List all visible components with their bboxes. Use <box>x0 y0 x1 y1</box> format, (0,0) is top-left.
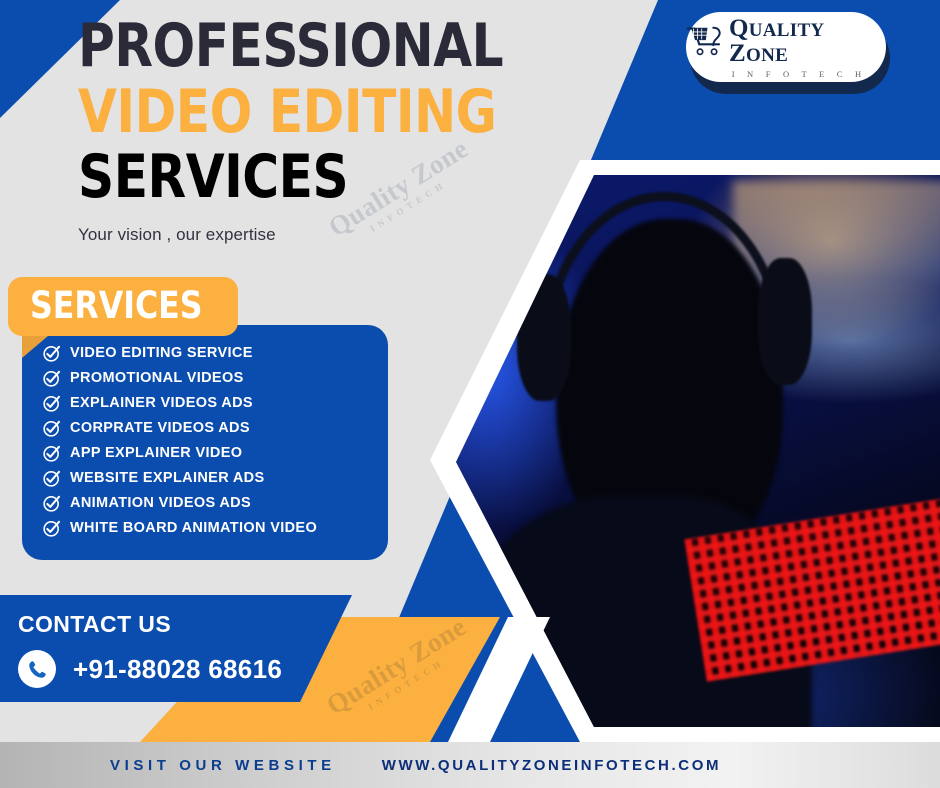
check-circle-icon <box>42 493 62 513</box>
poster-canvas: Quality Zone INFOTECH Quality Zone INFOT… <box>0 0 940 788</box>
service-item-label: ANIMATION VIDEOS ADS <box>70 495 251 511</box>
check-circle-icon <box>42 393 62 413</box>
headline-line-1: PROFESSIONAL <box>78 18 478 76</box>
service-item: CORPRATE VIDEOS ADS <box>42 418 388 438</box>
headline-line-2: VIDEO EDITING <box>78 84 478 142</box>
check-circle-icon <box>42 518 62 538</box>
check-circle-icon <box>42 368 62 388</box>
logo-wordmark: QUALITY ZONE <box>729 16 886 66</box>
logo-subtitle: I N F O T E C H <box>732 69 867 79</box>
check-circle-icon <box>42 418 62 438</box>
check-circle-icon <box>42 443 62 463</box>
service-item: EXPLAINER VIDEOS ADS <box>42 393 388 413</box>
logo-word-zone-rest: ONE <box>746 45 788 66</box>
service-item-label: CORPRATE VIDEOS ADS <box>70 420 250 436</box>
service-item: APP EXPLAINER VIDEO <box>42 443 388 463</box>
contact-phone-row[interactable]: +91-88028 68616 <box>18 650 352 688</box>
brand-logo[interactable]: QUALITY ZONE I N F O T E C H <box>686 12 886 82</box>
logo-word-quality-rest: UALITY <box>749 20 825 41</box>
contact-title: CONTACT US <box>18 611 352 638</box>
service-item: WEBSITE EXPLAINER ADS <box>42 468 388 488</box>
footer-visit-label: VISIT OUR WEBSITE <box>110 757 336 774</box>
footer-bar: VISIT OUR WEBSITE WWW.QUALITYZONEINFOTEC… <box>0 742 940 788</box>
logo-word-quality-q: Q <box>729 15 749 42</box>
service-item-label: WEBSITE EXPLAINER ADS <box>70 470 265 486</box>
services-badge-label: SERVICES <box>30 284 203 327</box>
service-item: ANIMATION VIDEOS ADS <box>42 493 388 513</box>
services-badge: SERVICES <box>8 277 238 336</box>
headline-block: PROFESSIONAL VIDEO EDITING SERVICES Your… <box>78 18 508 245</box>
service-item-label: APP EXPLAINER VIDEO <box>70 445 242 461</box>
service-item-label: VIDEO EDITING SERVICE <box>70 345 253 361</box>
service-item: VIDEO EDITING SERVICE <box>42 343 388 363</box>
headline-line-3: SERVICES <box>78 149 478 207</box>
service-item: PROMOTIONAL VIDEOS <box>42 368 388 388</box>
service-item: WHITE BOARD ANIMATION VIDEO <box>42 518 388 538</box>
contact-phone-number: +91-88028 68616 <box>73 654 282 685</box>
tagline: Your vision , our expertise <box>78 225 508 245</box>
service-item-label: WHITE BOARD ANIMATION VIDEO <box>70 520 317 536</box>
check-circle-icon <box>42 468 62 488</box>
logo-word-zone-z: Z <box>729 40 746 67</box>
check-circle-icon <box>42 343 62 363</box>
phone-icon <box>18 650 56 688</box>
service-item-label: EXPLAINER VIDEOS ADS <box>70 395 253 411</box>
services-list-card: VIDEO EDITING SERVICE PROMOTIONAL VIDEOS… <box>22 325 388 560</box>
contact-block: CONTACT US +91-88028 68616 <box>0 595 352 702</box>
service-item-label: PROMOTIONAL VIDEOS <box>70 370 244 386</box>
shopping-cart-icon <box>686 26 724 56</box>
footer-website-url[interactable]: WWW.QUALITYZONEINFOTECH.COM <box>382 757 721 774</box>
